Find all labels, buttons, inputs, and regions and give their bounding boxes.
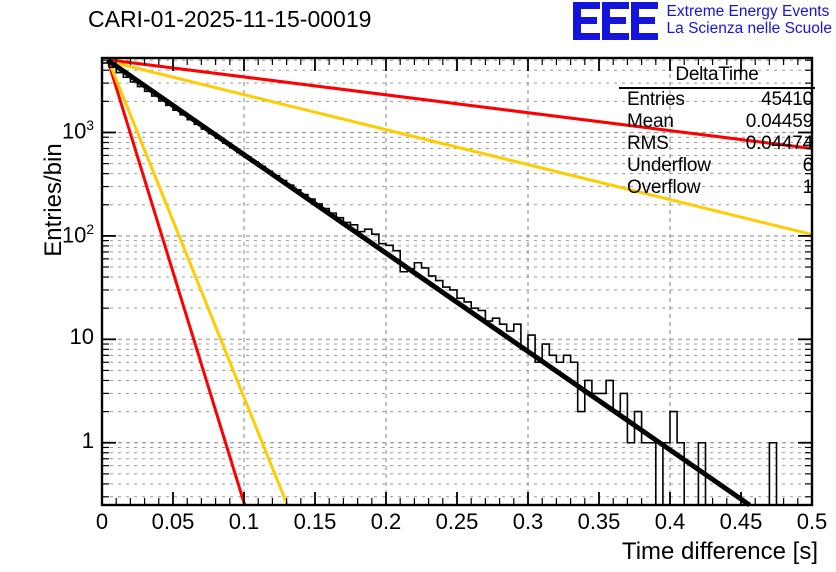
stats-row: Entries45410	[619, 89, 815, 111]
x-tick-label: 0.5	[767, 511, 836, 533]
x-axis-label: Time difference [s]	[622, 538, 818, 566]
page-title: CARI-01-2025-11-15-00019	[88, 6, 371, 33]
stats-row-value: 0.04459	[746, 111, 813, 133]
chart-canvas: CARI-01-2025-11-15-00019	[0, 0, 836, 572]
stats-rows: Entries45410Mean0.04459RMS0.04474Underfl…	[619, 89, 815, 199]
stats-row-value: 6	[803, 155, 813, 177]
eee-logo: Extreme Energy Events La Scienza nelle S…	[573, 2, 832, 40]
y-tick-label: 10	[70, 326, 94, 348]
stats-row-label: Mean	[627, 111, 674, 133]
eee-mark-icon	[573, 2, 659, 40]
stats-title: DeltaTime	[619, 64, 815, 89]
eee-logo-text: Extreme Energy Events La Scienza nelle S…	[667, 2, 832, 38]
eee-logo-line1: Extreme Energy Events	[667, 3, 832, 20]
y-tick-label: 103	[62, 119, 94, 142]
stats-row: Underflow6	[619, 155, 815, 177]
stats-row-label: Entries	[627, 89, 685, 111]
eee-letters-icon	[573, 2, 659, 40]
stats-row: RMS0.04474	[619, 133, 815, 155]
stats-row-label: Overflow	[627, 177, 700, 199]
stats-row-value: 1	[803, 177, 813, 199]
stats-row: Overflow1	[619, 177, 815, 199]
stats-row-label: Underflow	[627, 155, 711, 177]
y-tick-label: 102	[62, 223, 94, 246]
stats-row-value: 0.04474	[746, 133, 813, 155]
y-tick-label: 1	[82, 430, 94, 452]
stats-box: DeltaTime Entries45410Mean0.04459RMS0.04…	[619, 64, 815, 199]
eee-logo-line2: La Scienza nelle Scuole	[667, 20, 832, 37]
stats-row-value: 45410	[761, 89, 813, 111]
stats-row-label: RMS	[627, 133, 669, 155]
stats-row: Mean0.04459	[619, 111, 815, 133]
